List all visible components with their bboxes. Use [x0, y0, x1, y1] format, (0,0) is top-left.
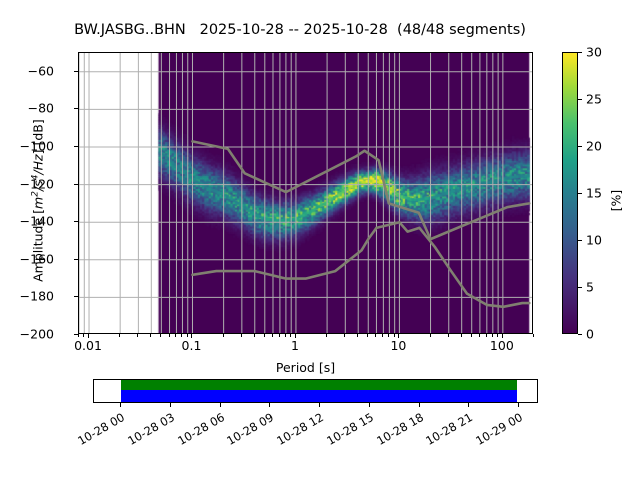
x-tick-label-0: 0.01 [74, 338, 102, 353]
x-axis-label: Period [s] [78, 360, 533, 375]
y-tick-mark-3 [74, 184, 78, 185]
x-minor-tick [461, 334, 462, 337]
x-minor-tick [430, 334, 431, 337]
y-tick-mark-2 [74, 146, 78, 147]
x-minor-tick [137, 334, 138, 337]
x-tick-label-3: 10 [390, 338, 406, 353]
x-tick-mark-1 [191, 334, 192, 338]
y-tick-mark-1 [74, 108, 78, 109]
colorbar-tick-mark-1 [578, 287, 582, 288]
y-tick-label-1: −80 [28, 101, 54, 116]
x-minor-tick [279, 334, 280, 337]
timeline-tick-mark-6 [419, 403, 420, 407]
y-tick-label-7: −200 [20, 327, 54, 342]
timeline-tick-mark-8 [518, 403, 519, 407]
colorbar[interactable] [562, 52, 578, 334]
x-tick-mark-4 [502, 334, 503, 338]
x-minor-tick [375, 334, 376, 337]
x-minor-tick [326, 334, 327, 337]
x-minor-tick [290, 334, 291, 337]
x-minor-tick [254, 334, 255, 337]
colorbar-tick-label-3: 15 [586, 186, 602, 201]
y-tick-label-5: −160 [20, 251, 54, 266]
noise-model-curves [79, 53, 533, 334]
x-minor-tick [160, 334, 161, 337]
x-tick-mark-0 [88, 334, 89, 338]
colorbar-tick-mark-2 [578, 240, 582, 241]
x-minor-tick [264, 334, 265, 337]
x-tick-label-1: 0.1 [182, 338, 202, 353]
colorbar-tick-mark-4 [578, 146, 582, 147]
x-minor-tick [533, 334, 534, 337]
x-minor-tick [344, 334, 345, 337]
x-minor-tick [181, 334, 182, 337]
x-minor-tick [187, 334, 188, 337]
x-minor-tick [150, 334, 151, 337]
colorbar-tick-label-5: 25 [586, 92, 602, 107]
colorbar-tick-label-2: 10 [586, 233, 602, 248]
colorbar-tick-label-1: 5 [586, 280, 594, 295]
y-tick-mark-0 [74, 71, 78, 72]
x-minor-tick [497, 334, 498, 337]
page-title: BW.JASBG..BHN 2025-10-28 -- 2025-10-28 (… [0, 22, 600, 38]
colorbar-tick-label-6: 30 [586, 45, 602, 60]
x-minor-tick [479, 334, 480, 337]
x-minor-tick [175, 334, 176, 337]
x-minor-tick [367, 334, 368, 337]
y-tick-label-3: −120 [20, 176, 54, 191]
timeline-tick-mark-0 [120, 403, 121, 407]
x-minor-tick [272, 334, 273, 337]
x-tick-label-2: 1 [291, 338, 299, 353]
x-minor-tick [78, 334, 79, 337]
x-minor-tick [357, 334, 358, 337]
timeline-tick-mark-4 [319, 403, 320, 407]
x-minor-tick [492, 334, 493, 337]
timeline-tick-mark-3 [269, 403, 270, 407]
x-tick-mark-2 [295, 334, 296, 338]
x-minor-tick [169, 334, 170, 337]
timeline-tick-mark-7 [468, 403, 469, 407]
timeline-tick-mark-1 [170, 403, 171, 407]
y-tick-label-0: −60 [28, 63, 54, 78]
y-tick-mark-4 [74, 221, 78, 222]
ppsd-main-axes[interactable] [78, 52, 533, 334]
timeline-tick-mark-2 [220, 403, 221, 407]
colorbar-tick-mark-6 [578, 52, 582, 53]
x-minor-tick [119, 334, 120, 337]
x-minor-tick [388, 334, 389, 337]
colorbar-tick-mark-5 [578, 99, 582, 100]
colorbar-tick-mark-0 [578, 334, 582, 335]
x-minor-tick [448, 334, 449, 337]
x-minor-tick [394, 334, 395, 337]
colorbar-label: [%] [609, 156, 624, 246]
x-tick-label-4: 100 [490, 338, 514, 353]
x-minor-tick [486, 334, 487, 337]
x-minor-tick [285, 334, 286, 337]
x-minor-tick [471, 334, 472, 337]
colorbar-tick-label-4: 20 [586, 139, 602, 154]
y-tick-label-6: −180 [20, 289, 54, 304]
colorbar-tick-label-0: 0 [586, 327, 594, 342]
colorbar-tick-mark-3 [578, 193, 582, 194]
ppsd-figure: BW.JASBG..BHN 2025-10-28 -- 2025-10-28 (… [0, 0, 640, 480]
y-tick-label-2: −100 [20, 139, 54, 154]
x-tick-mark-3 [398, 334, 399, 338]
x-minor-tick [83, 334, 84, 337]
y-tick-mark-6 [74, 296, 78, 297]
y-tick-mark-5 [74, 259, 78, 260]
y-tick-label-4: −140 [20, 214, 54, 229]
timeline-tick-mark-5 [369, 403, 370, 407]
x-minor-tick [241, 334, 242, 337]
x-minor-tick [223, 334, 224, 337]
x-minor-tick [382, 334, 383, 337]
